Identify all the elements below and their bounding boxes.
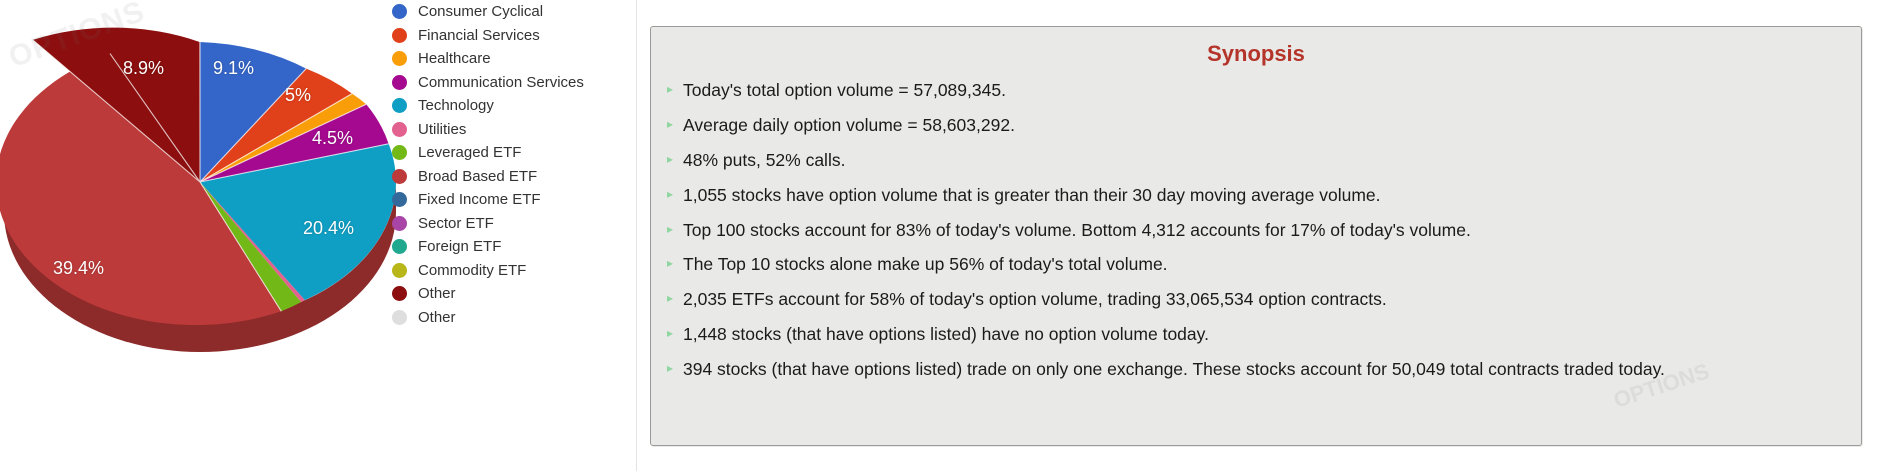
synopsis-bullet-text: Top 100 stocks account for 83% of today'… [683,219,1847,241]
legend-item-commodity-etf[interactable]: Commodity ETF [392,259,632,283]
legend-item-label: Consumer Cyclical [418,4,543,19]
legend-item-label: Foreign ETF [418,239,501,254]
synopsis-bullet: ▸ 2,035 ETFs account for 58% of today's … [665,288,1847,310]
legend-item-label: Leveraged ETF [418,145,521,160]
panel-divider [636,0,637,471]
legend-item-fixed-income-etf[interactable]: Fixed Income ETF [392,188,632,212]
legend-item-label: Technology [418,98,494,113]
synopsis-bullet-text: 48% puts, 52% calls. [683,149,1847,171]
legend-item-foreign-etf[interactable]: Foreign ETF [392,235,632,259]
synopsis-bullet: ▸ 1,055 stocks have option volume that i… [665,184,1847,206]
legend-swatch-icon [392,51,407,66]
legend-item-label: Other [418,286,456,301]
synopsis-bullet: ▸ Top 100 stocks account for 83% of toda… [665,219,1847,241]
legend-swatch-icon [392,263,407,278]
legend-item-label: Healthcare [418,51,491,66]
synopsis-bullet-text: 1,055 stocks have option volume that is … [683,184,1847,206]
legend-item-label: Utilities [418,122,466,137]
synopsis-bullet-text: 1,448 stocks (that have options listed) … [683,323,1847,345]
legend-swatch-icon [392,192,407,207]
synopsis-bullet-text: Today's total option volume = 57,089,345… [683,79,1847,101]
legend-swatch-icon [392,310,407,325]
triangle-bullet-icon: ▸ [665,184,683,205]
legend-item-financial-services[interactable]: Financial Services [392,24,632,48]
synopsis-bullet: ▸ 394 stocks (that have options listed) … [665,358,1847,380]
legend-swatch-icon [392,4,407,19]
option-volume-pie-chart: OPTIONS 9.1% 5% 4.5% 20.4% 39.4% 8.9% [0,0,400,400]
legend-swatch-icon [392,75,407,90]
pie-svg [0,0,400,400]
legend-item-label: Communication Services [418,75,584,90]
legend-swatch-icon [392,216,407,231]
synopsis-bullet-text: The Top 10 stocks alone make up 56% of t… [683,253,1847,275]
legend-item-broad-based-etf[interactable]: Broad Based ETF [392,165,632,189]
legend-item-other-light[interactable]: Other [392,306,632,330]
legend-item-technology[interactable]: Technology [392,94,632,118]
legend-item-label: Commodity ETF [418,263,526,278]
pie-legend: Consumer Cyclical Financial Services Hea… [392,0,632,329]
synopsis-bullet: ▸ 1,448 stocks (that have options listed… [665,323,1847,345]
synopsis-bullet-text: 394 stocks (that have options listed) tr… [683,358,1847,380]
triangle-bullet-icon: ▸ [665,79,683,100]
synopsis-bullet-list: ▸ Today's total option volume = 57,089,3… [665,79,1847,381]
legend-item-label: Fixed Income ETF [418,192,541,207]
synopsis-bullet: ▸ The Top 10 stocks alone make up 56% of… [665,253,1847,275]
screenshot-root: OPTIONS 9.1% 5% 4.5% 20.4% 39.4% 8.9% Co… [0,0,1884,471]
legend-item-utilities[interactable]: Utilities [392,118,632,142]
legend-item-label: Broad Based ETF [418,169,537,184]
synopsis-bullet: ▸ Average daily option volume = 58,603,2… [665,114,1847,136]
triangle-bullet-icon: ▸ [665,288,683,309]
legend-item-label: Financial Services [418,28,540,43]
synopsis-bullet: ▸ Today's total option volume = 57,089,3… [665,79,1847,101]
legend-swatch-icon [392,145,407,160]
synopsis-bullet: ▸ 48% puts, 52% calls. [665,149,1847,171]
legend-item-leveraged-etf[interactable]: Leveraged ETF [392,141,632,165]
legend-item-label: Other [418,310,456,325]
legend-swatch-icon [392,286,407,301]
triangle-bullet-icon: ▸ [665,323,683,344]
synopsis-bullet-text: Average daily option volume = 58,603,292… [683,114,1847,136]
legend-item-consumer-cyclical[interactable]: Consumer Cyclical [392,0,632,24]
triangle-bullet-icon: ▸ [665,114,683,135]
triangle-bullet-icon: ▸ [665,253,683,274]
triangle-bullet-icon: ▸ [665,219,683,240]
legend-item-healthcare[interactable]: Healthcare [392,47,632,71]
legend-swatch-icon [392,122,407,137]
legend-item-sector-etf[interactable]: Sector ETF [392,212,632,236]
synopsis-panel: Synopsis ▸ Today's total option volume =… [650,26,1862,446]
legend-item-label: Sector ETF [418,216,494,231]
legend-swatch-icon [392,28,407,43]
triangle-bullet-icon: ▸ [665,358,683,379]
legend-item-communication-services[interactable]: Communication Services [392,71,632,95]
synopsis-title: Synopsis [665,43,1847,65]
legend-swatch-icon [392,239,407,254]
synopsis-bullet-text: 2,035 ETFs account for 58% of today's op… [683,288,1847,310]
legend-swatch-icon [392,169,407,184]
legend-item-other-dark[interactable]: Other [392,282,632,306]
legend-swatch-icon [392,98,407,113]
triangle-bullet-icon: ▸ [665,149,683,170]
